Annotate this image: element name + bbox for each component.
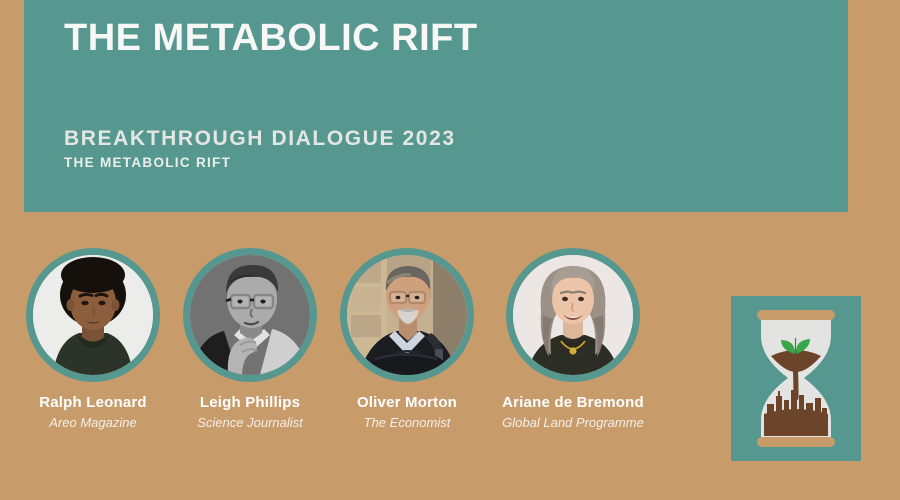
- session-subtitle: THE METABOLIC RIFT: [64, 153, 456, 172]
- speaker-affiliation: Global Land Programme: [478, 414, 668, 431]
- hourglass-sprout-city-logo: [731, 296, 861, 461]
- speaker-name: Oliver Morton: [312, 394, 502, 412]
- portrait-ariane-de-bremond: [513, 255, 633, 375]
- avatar: [183, 248, 317, 382]
- page-title: THE METABOLIC RIFT: [64, 14, 478, 62]
- portrait-oliver-morton: [347, 255, 467, 375]
- avatar: [26, 248, 160, 382]
- portrait-leigh-phillips: [190, 255, 310, 375]
- portrait-ralph-leonard: [33, 255, 153, 375]
- avatar: [340, 248, 474, 382]
- event-subtitle: BREAKTHROUGH DIALOGUE 2023: [64, 126, 456, 152]
- subtitle-block: BREAKTHROUGH DIALOGUE 2023 THE METABOLIC…: [64, 126, 456, 172]
- header-panel: THE METABOLIC RIFT BREAKTHROUGH DIALOGUE…: [24, 0, 848, 212]
- speaker-affiliation: The Economist: [312, 414, 502, 431]
- presentation-slide: THE METABOLIC RIFT BREAKTHROUGH DIALOGUE…: [0, 0, 900, 500]
- avatar: [506, 248, 640, 382]
- speakers-row: Ralph Leonard Areo Magazine: [0, 248, 680, 448]
- logo-panel: [731, 296, 861, 461]
- speaker-card: Ariane de Bremond Global Land Programme: [478, 248, 668, 431]
- speaker-name: Ariane de Bremond: [478, 394, 668, 412]
- speaker-card: Oliver Morton The Economist: [312, 248, 502, 431]
